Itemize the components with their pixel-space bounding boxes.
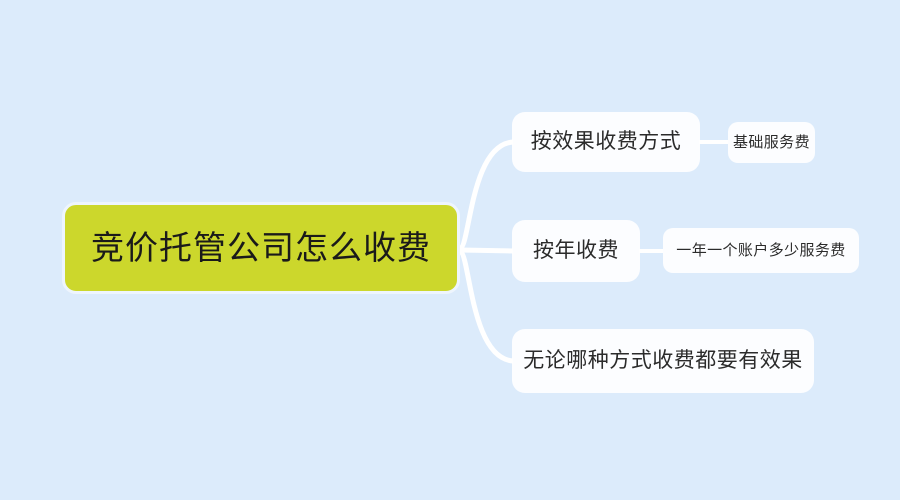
branch-node-1-label: 按年收费 bbox=[533, 239, 619, 262]
mindmap-branch-node-1[interactable]: 按年收费 bbox=[513, 221, 639, 281]
branch-node-2-label: 无论哪种方式收费都要有效果 bbox=[523, 349, 803, 372]
mindmap-canvas: 竞价托管公司怎么收费 按效果收费方式 按年收费 无论哪种方式收费都要有效果 基础… bbox=[0, 0, 900, 500]
leaf-node-0-label: 基础服务费 bbox=[733, 134, 810, 151]
leaf-node-1-label: 一年一个账户多少服务费 bbox=[676, 242, 845, 259]
mindmap-branch-node-0[interactable]: 按效果收费方式 bbox=[513, 113, 699, 171]
connector-root-to-branch-1 bbox=[460, 250, 513, 251]
mindmap-leaf-node-0[interactable]: 基础服务费 bbox=[728, 122, 815, 163]
branch-node-0-label: 按效果收费方式 bbox=[531, 130, 682, 153]
root-node-label: 竞价托管公司怎么收费 bbox=[91, 230, 431, 266]
mindmap-root-node[interactable]: 竞价托管公司怎么收费 bbox=[62, 202, 460, 294]
connector-root-to-branch-0 bbox=[460, 142, 513, 248]
mindmap-leaf-node-1[interactable]: 一年一个账户多少服务费 bbox=[663, 228, 859, 273]
connector-root-to-branch-2 bbox=[460, 252, 513, 361]
mindmap-branch-node-2[interactable]: 无论哪种方式收费都要有效果 bbox=[513, 330, 813, 392]
